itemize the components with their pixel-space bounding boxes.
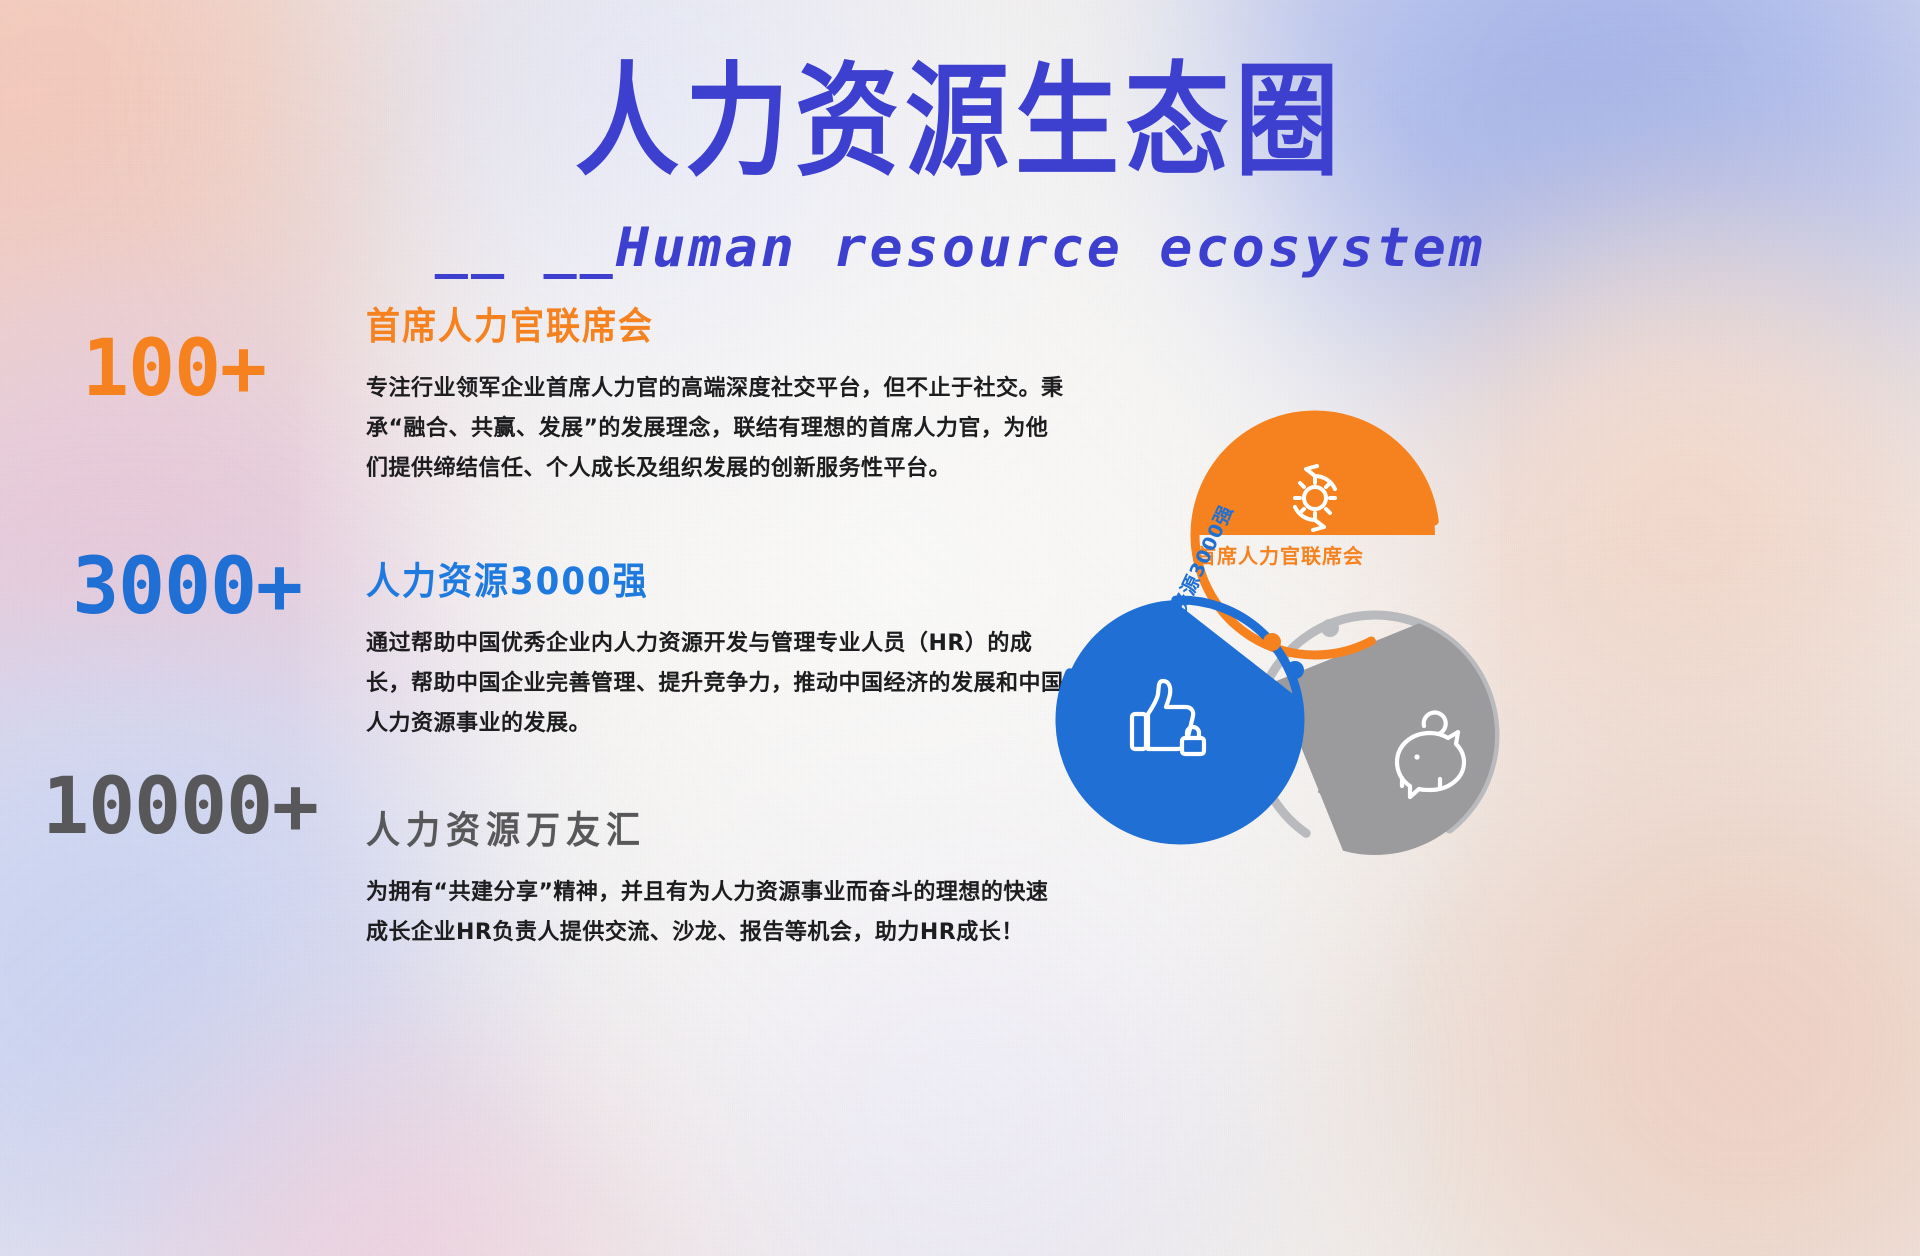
connector-dot-orange: [1263, 633, 1281, 651]
stat-value-3000: 3000+: [0, 548, 302, 626]
section-body: 为拥有“共建分享”精神，并且有为人力资源事业而奋斗的理想的快速成长企业HR负责人…: [366, 873, 1066, 953]
connector-dot-gray: [1321, 619, 1339, 637]
stats-column: 100+ 3000+ 10000+: [0, 330, 340, 846]
section-body: 通过帮助中国优秀企业内人力资源开发与管理专业人员（HR）的成长，帮助中国企业完善…: [366, 624, 1066, 744]
section-heading: 人力资源3000强: [366, 551, 1066, 605]
page-title: 人力资源生态圈: [0, 60, 1920, 183]
section-body: 专注行业领军企业首席人力官的高端深度社交平台，但不止于社交。秉承“融合、共赢、发…: [366, 369, 1066, 489]
page-subtitle: __ __Human resource ecosystem: [0, 216, 1920, 279]
section-cho-council: 首席人力官联席会 专注行业领军企业首席人力官的高端深度社交平台，但不止于社交。秉…: [366, 296, 1066, 489]
connector-dot-blue: [1286, 661, 1304, 679]
section-hr-wanyouhui: 人力资源万友汇 为拥有“共建分享”精神，并且有为人力资源事业而奋斗的理想的快速成…: [366, 800, 1066, 953]
sections-column: 首席人力官联席会 专注行业领军企业首席人力官的高端深度社交平台，但不止于社交。秉…: [366, 296, 1066, 993]
section-heading: 人力资源万友汇: [366, 800, 1066, 854]
stat-value-10000: 10000+: [0, 768, 318, 846]
poster-header: 人力资源生态圈 __ __Human resource ecosystem: [0, 60, 1920, 279]
section-heading: 首席人力官联席会: [366, 296, 1066, 350]
ecosystem-diagram: 首席人力官联席会 人力资源3000强 人力资源万友汇: [1020, 380, 1540, 900]
section-hr3000: 人力资源3000强 通过帮助中国优秀企业内人力资源开发与管理专业人员（HR）的成…: [366, 551, 1066, 744]
diagram-svg: [1020, 380, 1540, 900]
poster-canvas: 人力资源生态圈 __ __Human resource ecosystem 10…: [0, 0, 1920, 1256]
stat-value-100: 100+: [0, 330, 266, 408]
